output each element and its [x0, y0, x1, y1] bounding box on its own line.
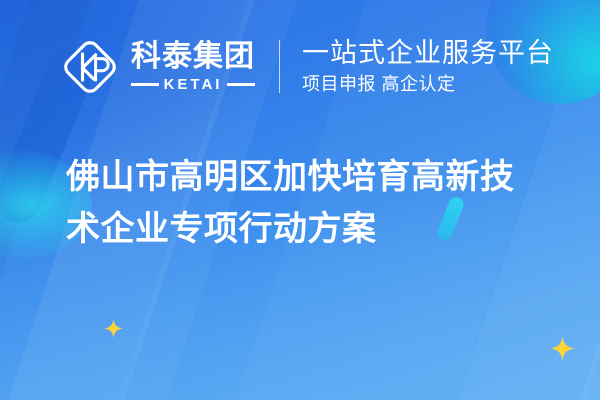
logo-dash-right: [227, 83, 255, 86]
logo-dash-left: [131, 83, 159, 86]
logo-name-en-row: KETAI: [131, 77, 255, 92]
logo-name-en: KETAI: [164, 77, 223, 92]
logo-name-cn: 科泰集团: [131, 42, 255, 72]
tagline-main: 一站式企业服务平台: [302, 38, 554, 68]
logo-wordmark: 科泰集团 KETAI: [131, 42, 255, 92]
promo-banner: 科泰集团 KETAI 一站式企业服务平台 项目申报 高企认定 佛山市高明区加快培…: [0, 0, 600, 400]
sparkle-right-icon: [550, 336, 575, 361]
tagline-group: 一站式企业服务平台 项目申报 高企认定: [302, 38, 554, 96]
sparkle-left-icon: [104, 319, 123, 338]
banner-header: 科泰集团 KETAI 一站式企业服务平台 项目申报 高企认定: [62, 38, 554, 96]
tagline-sub: 项目申报 高企认定: [302, 74, 554, 96]
ketai-diamond-kp-logo-icon: [62, 39, 118, 95]
page-title: 佛山市高明区加快培育高新技术企业专项行动方案: [66, 152, 536, 255]
header-divider: [279, 40, 280, 93]
